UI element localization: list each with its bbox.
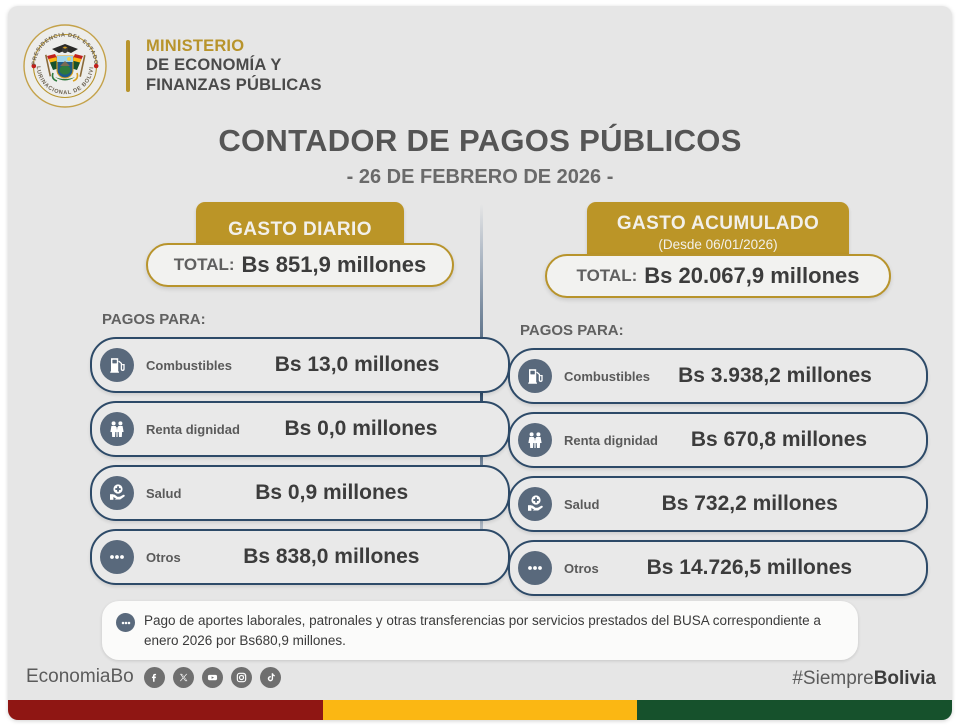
payment-row-renta-dignidad: Renta dignidad Bs 670,8 millones	[508, 412, 928, 468]
column-title: GASTO ACUMULADO	[597, 213, 839, 235]
columns-area: GASTO DIARIO TOTAL: Bs 851,9 millones PA…	[8, 202, 952, 594]
payment-row-combustibles: Combustibles Bs 13,0 millones	[90, 337, 510, 393]
payment-row-value: Bs 14.726,5 millones	[599, 556, 926, 580]
social-handle: EconomiaBo	[26, 666, 134, 688]
hashtag-bold: Bolivia	[874, 668, 936, 689]
instagram-icon[interactable]	[231, 667, 252, 688]
payment-row-value: Bs 670,8 millones	[658, 428, 926, 452]
payment-row-label: Renta dignidad	[564, 433, 658, 448]
flag-stripe-green	[637, 700, 952, 720]
total-value: Bs 851,9 millones	[242, 252, 427, 278]
tiktok-icon[interactable]	[260, 667, 281, 688]
column-gasto-acumulado: GASTO ACUMULADO (Desde 06/01/2026) TOTAL…	[508, 202, 928, 604]
footnote-box: Pago de aportes laborales, patronales y …	[102, 601, 858, 660]
pagos-para-label: PAGOS PARA:	[520, 322, 928, 339]
payment-row-label: Combustibles	[564, 369, 650, 384]
total-label: TOTAL:	[577, 266, 638, 286]
elderly-couple-icon	[100, 412, 134, 446]
total-badge: TOTAL: Bs 20.067,9 millones	[545, 254, 891, 298]
payment-row-value: Bs 0,0 millones	[240, 417, 508, 441]
hashtag-light: #Siempre	[792, 668, 873, 689]
bolivia-coat-of-arms-seal: PRESIDENCIA DEL ESTADO PLURINACIONAL DE …	[22, 23, 108, 109]
pagos-para-label: PAGOS PARA:	[102, 311, 510, 328]
flag-stripe-yellow	[323, 700, 638, 720]
payment-row-label: Salud	[146, 486, 181, 501]
payment-row-otros: Otros Bs 838,0 millones	[90, 529, 510, 585]
footnote-text: Pago de aportes laborales, patronales y …	[144, 611, 842, 650]
hashtag: #SiempreBolivia	[792, 668, 936, 690]
payment-row-salud: Salud Bs 732,2 millones	[508, 476, 928, 532]
ellipsis-icon	[518, 551, 552, 585]
payment-row-label: Otros	[146, 550, 181, 565]
page-subtitle: - 26 DE FEBRERO DE 2026 -	[8, 166, 952, 189]
brand-line-1: MINISTERIO	[146, 37, 322, 56]
brand-header: PRESIDENCIA DEL ESTADO PLURINACIONAL DE …	[22, 20, 322, 112]
ellipsis-icon	[116, 613, 135, 632]
payment-row-value: Bs 732,2 millones	[599, 492, 926, 516]
brand-text: MINISTERIO DE ECONOMÍA Y FINANZAS PÚBLIC…	[146, 37, 322, 95]
flag-stripe-red	[8, 700, 323, 720]
column-gasto-diario: GASTO DIARIO TOTAL: Bs 851,9 millones PA…	[90, 202, 510, 593]
facebook-icon[interactable]	[144, 667, 165, 688]
footer: EconomiaBo	[8, 666, 952, 704]
x-twitter-icon[interactable]	[173, 667, 194, 688]
brand-line-2: DE ECONOMÍA Y	[146, 56, 322, 75]
payment-row-label: Combustibles	[146, 358, 232, 373]
payment-row-otros: Otros Bs 14.726,5 millones	[508, 540, 928, 596]
fuel-pump-icon	[100, 348, 134, 382]
youtube-icon[interactable]	[202, 667, 223, 688]
footer-social-group: EconomiaBo	[26, 666, 281, 688]
payment-row-value: Bs 838,0 millones	[181, 545, 508, 569]
payment-row-value: Bs 3.938,2 millones	[650, 364, 926, 388]
bolivia-flag-bar	[8, 700, 952, 720]
total-badge: TOTAL: Bs 851,9 millones	[146, 243, 454, 287]
page-container: PRESIDENCIA DEL ESTADO PLURINACIONAL DE …	[8, 6, 952, 720]
payment-row-combustibles: Combustibles Bs 3.938,2 millones	[508, 348, 928, 404]
page-title: CONTADOR DE PAGOS PÚBLICOS	[8, 123, 952, 159]
column-title: GASTO DIARIO	[206, 219, 394, 241]
health-cross-icon	[100, 476, 134, 510]
payment-row-value: Bs 13,0 millones	[232, 353, 508, 377]
payment-row-label: Renta dignidad	[146, 422, 240, 437]
brand-line-3: FINANZAS PÚBLICAS	[146, 76, 322, 95]
payment-row-value: Bs 0,9 millones	[181, 481, 508, 505]
payment-row-label: Otros	[564, 561, 599, 576]
payment-row-label: Salud	[564, 497, 599, 512]
health-cross-icon	[518, 487, 552, 521]
brand-divider	[126, 40, 130, 92]
total-label: TOTAL:	[174, 255, 235, 275]
elderly-couple-icon	[518, 423, 552, 457]
column-subtitle: (Desde 06/01/2026)	[597, 237, 839, 252]
payment-row-renta-dignidad: Renta dignidad Bs 0,0 millones	[90, 401, 510, 457]
fuel-pump-icon	[518, 359, 552, 393]
total-value: Bs 20.067,9 millones	[644, 263, 859, 289]
ellipsis-icon	[100, 540, 134, 574]
payment-row-salud: Salud Bs 0,9 millones	[90, 465, 510, 521]
